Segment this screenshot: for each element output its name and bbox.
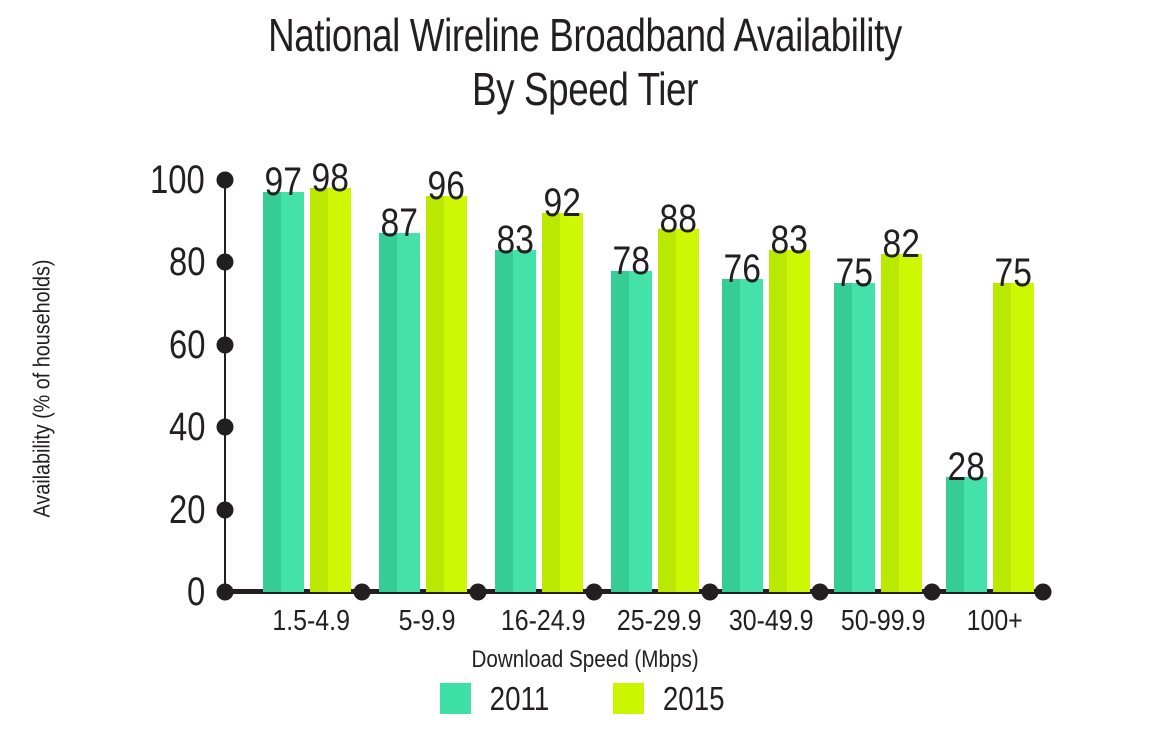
bar-value-2011-7: 28: [926, 447, 1006, 487]
bar-value-2011-4: 78: [591, 241, 671, 281]
y-tick-label-80: 80: [169, 242, 205, 282]
bar-2015-1[interactable]: [310, 188, 351, 592]
bar-2015-6[interactable]: [881, 254, 922, 592]
bar-value-2015-1: 98: [290, 158, 370, 198]
chart-legend: 2011 2015: [0, 682, 1170, 715]
bar-2011-2[interactable]: [379, 233, 420, 592]
y-tick-label-20: 20: [169, 490, 205, 530]
bar-2015-2[interactable]: [426, 196, 467, 592]
bar-2015-7[interactable]: [993, 283, 1034, 592]
bar-2015-3[interactable]: [542, 213, 583, 592]
legend-label-2015: 2015: [657, 682, 730, 715]
y-tick-label-60: 60: [169, 325, 205, 365]
bar-2015-4[interactable]: [658, 229, 699, 592]
bar-shade-light: [444, 196, 467, 592]
bar-value-2011-3: 83: [475, 220, 555, 260]
bar-shade-light: [629, 271, 652, 592]
bar-value-2011-2: 87: [359, 203, 439, 243]
bar-2015-5[interactable]: [769, 250, 810, 592]
y-tick-label-0: 0: [187, 572, 205, 612]
bar-shade-dark: [379, 233, 397, 592]
legend-swatch-2011: [440, 683, 471, 714]
bar-shade-dark: [993, 283, 1011, 592]
bar-shade-light: [397, 233, 420, 592]
y-tick-20: 20: [95, 490, 205, 530]
y-axis-title-text: Availability (% of households): [29, 260, 56, 518]
y-axis-title: Availability (% of households): [29, 159, 56, 619]
bar-shade-dark: [769, 250, 787, 592]
y-tick-0: 0: [95, 572, 205, 612]
bar-shade-dark: [611, 271, 629, 592]
bar-shade-dark: [834, 283, 852, 592]
bar-shade-dark: [495, 250, 513, 592]
bar-value-2015-7: 75: [973, 253, 1053, 293]
bar-shade-light: [899, 254, 922, 592]
bar-shade-dark: [946, 477, 964, 592]
y-tick-60: 60: [95, 325, 205, 365]
bar-shade-light: [513, 250, 536, 592]
bar-2011-4[interactable]: [611, 271, 652, 592]
bar-shade-dark: [658, 229, 676, 592]
x-axis-title: Download Speed (Mbps): [0, 646, 1170, 674]
legend-label-2011: 2011: [484, 682, 555, 715]
bar-2011-1[interactable]: [263, 192, 304, 592]
bar-shade-dark: [722, 279, 740, 592]
bar-2011-7[interactable]: [946, 477, 987, 592]
bar-shade-light: [1011, 283, 1034, 592]
y-tick-80: 80: [95, 242, 205, 282]
bar-shade-dark: [426, 196, 444, 592]
bar-value-2015-6: 82: [861, 224, 941, 264]
bar-2011-5[interactable]: [722, 279, 763, 592]
bar-2011-6[interactable]: [834, 283, 875, 592]
chart-title: National Wireline Broadband Availability…: [117, 8, 1053, 116]
legend-item-2015[interactable]: 2015: [613, 682, 730, 715]
bar-value-2015-4: 88: [638, 199, 718, 239]
bar-shade-dark: [881, 254, 899, 592]
bar-shade-light: [328, 188, 351, 592]
bar-value-2015-3: 92: [522, 183, 602, 223]
bar-shade-light: [787, 250, 810, 592]
bar-shade-light: [676, 229, 699, 592]
y-tick-label-100: 100: [150, 160, 205, 200]
y-tick-40: 40: [95, 407, 205, 447]
x-cat-label-7: 100+: [895, 604, 1095, 638]
bar-shade-dark: [263, 192, 281, 592]
bar-shade-light: [281, 192, 304, 592]
bar-shade-dark: [310, 188, 328, 592]
bar-shade-dark: [542, 213, 560, 592]
y-tick-label-40: 40: [169, 407, 205, 447]
y-tick-100: 100: [95, 160, 205, 200]
bar-shade-light: [740, 279, 763, 592]
bar-shade-light: [852, 283, 875, 592]
x-axis-title-text: Download Speed (Mbps): [471, 646, 698, 674]
bar-shade-light: [560, 213, 583, 592]
legend-swatch-2015: [613, 683, 644, 714]
legend-item-2011[interactable]: 2011: [440, 682, 555, 715]
bar-shade-light: [964, 477, 987, 592]
bar-2011-3[interactable]: [495, 250, 536, 592]
bar-value-2015-2: 96: [406, 166, 486, 206]
